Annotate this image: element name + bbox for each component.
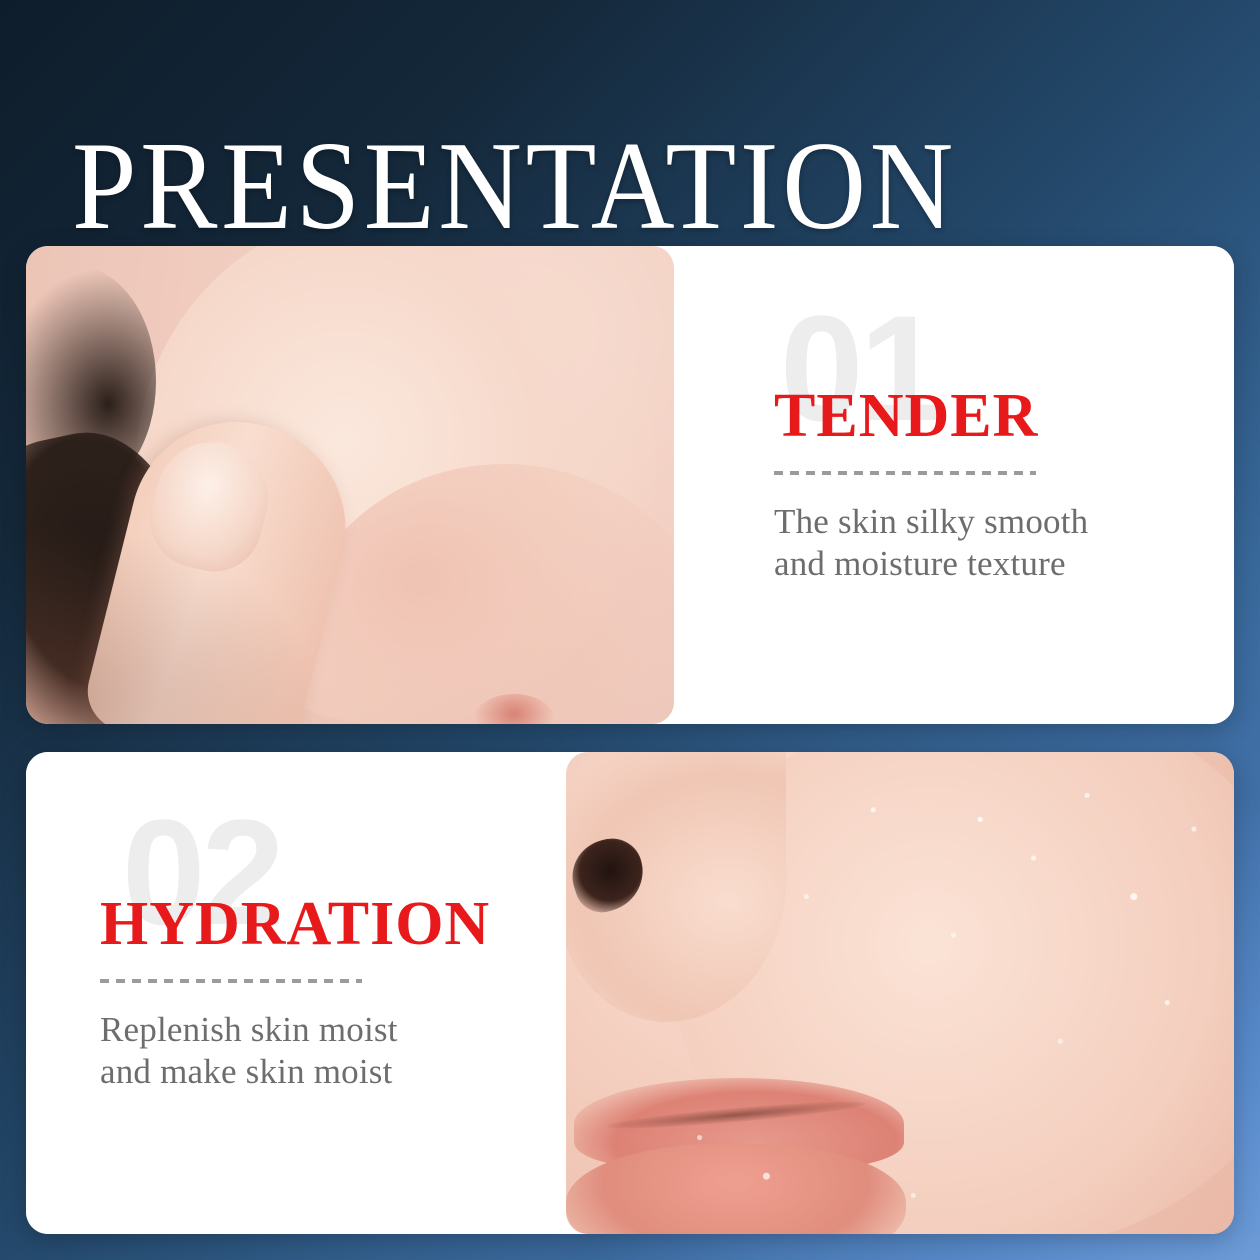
card-01-text-panel: 01 TENDER The skin silky smooth and mois…: [674, 246, 1234, 724]
skin-sparkle-overlay: [566, 752, 1234, 1234]
presentation-poster: PRESENTATION 01 TENDER The skin silky sm…: [0, 0, 1260, 1260]
photo-shadow: [26, 524, 326, 724]
card-02-text-panel: 02 HYDRATION Replenish skin moist and ma…: [26, 752, 566, 1234]
card-01-body-text: The skin silky smooth and moisture textu…: [774, 501, 1088, 585]
card-01-dashed-divider: [774, 471, 1036, 475]
page-title: PRESENTATION: [72, 124, 1102, 250]
feature-card-01[interactable]: 01 TENDER The skin silky smooth and mois…: [26, 246, 1234, 724]
card-02-body-text: Replenish skin moist and make skin moist: [100, 1009, 490, 1093]
feature-card-02[interactable]: 02 HYDRATION Replenish skin moist and ma…: [26, 752, 1234, 1234]
card-01-heading: TENDER: [774, 385, 1088, 447]
card-02-dashed-divider: [100, 979, 362, 983]
card-02-heading: HYDRATION: [100, 893, 490, 955]
card-01-photo: [26, 246, 674, 724]
card-02-photo: [566, 752, 1234, 1234]
